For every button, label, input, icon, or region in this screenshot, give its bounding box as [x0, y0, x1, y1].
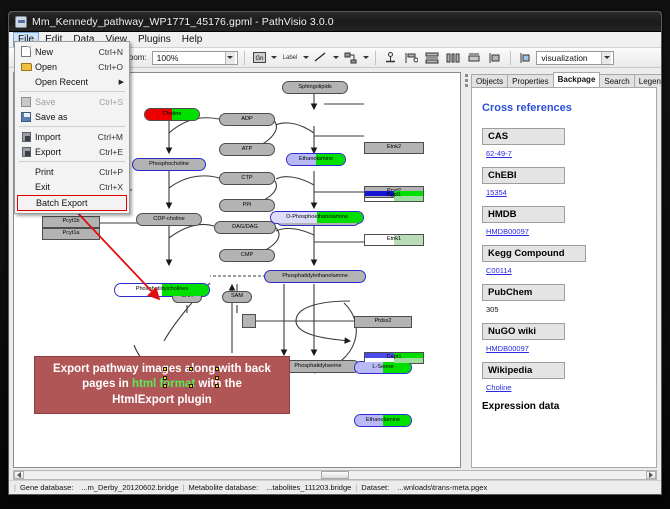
label-button[interactable]: Label: [281, 50, 300, 66]
node-pcyt1b[interactable]: Pcyt1b: [42, 216, 100, 228]
menu-item-open-recent[interactable]: Open Recent ▶: [15, 74, 129, 89]
menu-item-label: Import: [35, 132, 98, 142]
node-sam[interactable]: SAM: [222, 291, 252, 303]
import-icon: [17, 132, 35, 142]
xref-value[interactable]: Choline: [482, 379, 646, 392]
xref-pubchem: PubChem 305: [482, 284, 646, 314]
node-ethanolamine[interactable]: Ethanolamine: [286, 153, 346, 166]
tab-objects[interactable]: Objects: [471, 74, 508, 87]
anchor-button[interactable]: [382, 50, 399, 66]
node-anchor-box[interactable]: [242, 314, 256, 328]
new-file-icon: [17, 46, 35, 57]
backpage-content[interactable]: Cross references CAS 62-49-7 ChEBI 15354…: [471, 87, 657, 468]
selection-handle[interactable]: [163, 384, 167, 388]
tab-backpage[interactable]: Backpage: [553, 72, 601, 87]
menu-item-accel: Ctrl+N: [99, 47, 129, 57]
menu-item-import[interactable]: Import Ctrl+M: [15, 129, 129, 144]
tab-legend[interactable]: Legend: [634, 74, 662, 87]
menu-help[interactable]: Help: [177, 32, 208, 47]
menu-separator: [19, 126, 125, 127]
toolbar-separator-3: [510, 51, 511, 65]
status-bar: | Gene database: ...m_Derby_20120602.bri…: [9, 480, 661, 494]
menu-item-save-as[interactable]: Save as: [15, 109, 129, 124]
node-label: Etnk1: [387, 237, 401, 243]
node-atp[interactable]: ATP: [219, 143, 275, 156]
node-label: Ethanolamine: [299, 157, 333, 163]
menu-item-batch-export[interactable]: Batch Export: [17, 195, 127, 211]
expression-data-heading: Expression data: [482, 401, 646, 412]
selection-handle[interactable]: [215, 384, 219, 388]
node-label: Etnk2: [387, 145, 401, 151]
panel-drag-rail[interactable]: [463, 72, 470, 468]
node-label: Ptdss2: [374, 319, 391, 325]
node-phosphatidylethanolamine[interactable]: Phosphatidylethanolamine: [264, 270, 366, 283]
xref-chebi: ChEBI 15354: [482, 167, 646, 197]
menu-item-open[interactable]: Open Ctrl+O: [15, 59, 129, 74]
cross-references-heading: Cross references: [482, 102, 646, 114]
menu-item-print[interactable]: Print Ctrl+P: [15, 164, 129, 179]
annotation-banner: Export pathway images along with back pa…: [34, 356, 290, 414]
xref-nugo-wiki: NuGO wiki HMDB00097: [482, 323, 646, 353]
node-label: L-Serine: [372, 365, 393, 371]
node-sphingolipids[interactable]: Sphingolipids: [282, 81, 348, 94]
node-label: Cept1: [387, 355, 402, 361]
menu-item-label: Print: [35, 167, 99, 177]
xref-value[interactable]: HMDB00097: [482, 223, 646, 236]
node-label: Pcyt1b: [62, 219, 79, 225]
menu-item-accel: Ctrl+M: [98, 132, 129, 142]
node-label: Phosphatidylcholines: [136, 287, 189, 293]
selection-handle[interactable]: [215, 367, 219, 371]
selection-handle[interactable]: [215, 376, 219, 380]
node-choline-top[interactable]: Choline: [144, 108, 200, 121]
visualization-value: visualization: [541, 53, 601, 63]
xref-value[interactable]: C00114: [482, 262, 646, 275]
node-phosphatidylcholines[interactable]: Phosphatidylcholines: [114, 283, 210, 297]
status-gene-database-label: Gene database:: [16, 483, 77, 492]
xref-wikipedia: Wikipedia Choline: [482, 362, 646, 392]
node-label: CTP: [241, 176, 252, 182]
status-dataset-label: Dataset:: [357, 483, 393, 492]
scrollbar-thumb[interactable]: [321, 471, 349, 479]
menu-item-label: Open Recent: [35, 77, 129, 87]
node-label: O-Phosphoethanolamine: [286, 215, 348, 221]
selection-handle[interactable]: [189, 384, 193, 388]
xref-link[interactable]: HMDB00097: [486, 227, 529, 236]
line-button[interactable]: [312, 50, 329, 66]
save-icon: [17, 97, 35, 107]
scroll-left-icon[interactable]: [14, 471, 24, 479]
datanode-dropdown-icon[interactable]: [271, 56, 278, 59]
xref-value: 305: [482, 301, 646, 314]
xref-label: Wikipedia: [482, 362, 565, 379]
menu-item-exit[interactable]: Exit Ctrl+X: [15, 179, 129, 194]
menu-item-accel: Ctrl+X: [99, 182, 129, 192]
label-dropdown-icon[interactable]: [302, 56, 309, 59]
menu-item-label: Exit: [35, 182, 99, 192]
line-dropdown-icon[interactable]: [332, 56, 339, 59]
node-phosphocholine[interactable]: Phosphocholine: [132, 158, 206, 171]
node-ctp[interactable]: CTP: [219, 172, 275, 185]
menu-item-label: Batch Export: [36, 198, 126, 208]
menu-item-accel: Ctrl+S: [99, 97, 129, 107]
chevron-down-icon-2[interactable]: [601, 52, 611, 64]
xref-link[interactable]: Choline: [486, 383, 511, 392]
export-icon: [17, 147, 35, 157]
node-label: PPi: [243, 203, 252, 209]
open-folder-icon: [17, 63, 35, 71]
menu-item-new[interactable]: New Ctrl+N: [15, 44, 129, 59]
node-ptdss2[interactable]: Ptdss2: [354, 316, 412, 328]
node-label: Sgpl1: [387, 193, 401, 199]
menu-item-save: Save Ctrl+S: [15, 94, 129, 109]
status-gene-database-value: ...m_Derby_20120602.bridge: [77, 483, 182, 492]
scroll-right-icon[interactable]: [646, 471, 656, 479]
xref-label: Kegg Compound: [482, 245, 586, 262]
xref-kegg-compound: Kegg Compound C00114: [482, 245, 646, 275]
banner-line-3: HtmlExport plugin: [112, 394, 212, 406]
interaction-button[interactable]: [342, 50, 359, 66]
side-panel: Objects Properties Backpage Search Legen…: [461, 72, 657, 468]
visualization-icon[interactable]: [517, 50, 533, 66]
rail-dot-icon: [465, 74, 468, 77]
xref-link[interactable]: HMDB00097: [486, 344, 529, 353]
xref-label: CAS: [482, 128, 565, 145]
xref-label: PubChem: [482, 284, 565, 301]
selection-handle[interactable]: [189, 367, 193, 371]
distribute-button[interactable]: [444, 50, 462, 66]
tab-search[interactable]: Search: [599, 74, 634, 87]
tab-properties[interactable]: Properties: [507, 74, 553, 87]
file-menu-dropdown[interactable]: New Ctrl+N Open Ctrl+O Open Recent ▶ Sav…: [14, 41, 130, 214]
node-label: Pcyt1a: [62, 231, 79, 237]
order-button[interactable]: [486, 50, 504, 66]
menu-separator: [19, 161, 125, 162]
banner-line-1: Export pathway images along with back: [53, 363, 271, 375]
zoom-value: 100%: [157, 53, 225, 63]
node-o-phosphoethanolamine[interactable]: O-Phosphoethanolamine: [270, 211, 364, 224]
xref-value[interactable]: 15354: [482, 184, 646, 197]
node-adp[interactable]: ADP: [219, 113, 275, 126]
pathvisio-icon: [15, 16, 27, 28]
xref-link[interactable]: C00114: [486, 266, 512, 275]
node-label: Sphingolipids: [298, 85, 331, 91]
node-ethanolamine-2[interactable]: Ethanolamine: [354, 414, 412, 427]
xref-value[interactable]: 62-49-7: [482, 145, 646, 158]
menu-item-label: New: [35, 47, 99, 57]
visualization-combobox[interactable]: visualization: [536, 51, 614, 65]
node-label: Ethanolamine: [366, 418, 400, 424]
node-ppi[interactable]: PPi: [219, 199, 275, 212]
toolbar-separator-2: [375, 51, 376, 65]
submenu-arrow-icon: ▶: [119, 78, 124, 86]
rail-dot-icon: [465, 84, 468, 87]
node-pcyt1a[interactable]: Pcyt1a: [42, 228, 100, 240]
selection-handle[interactable]: [163, 367, 167, 371]
xref-link[interactable]: 15354: [486, 188, 507, 197]
datanode-button[interactable]: Gn: [251, 50, 268, 66]
menu-plugins[interactable]: Plugins: [133, 32, 176, 47]
xref-label: HMDB: [482, 206, 565, 223]
interaction-dropdown-icon[interactable]: [362, 56, 369, 59]
group-button[interactable]: [465, 50, 483, 66]
status-metabolite-database-label: Metabolite database:: [184, 483, 262, 492]
node-etnk1[interactable]: Etnk1: [364, 234, 424, 246]
side-panel-tabs: Objects Properties Backpage Search Legen…: [461, 72, 657, 87]
window-title: Mm_Kennedy_pathway_WP1771_45176.gpml - P…: [32, 16, 334, 28]
node-label: Phosphocholine: [149, 162, 189, 168]
pathvisio-window: Mm_Kennedy_pathway_WP1771_45176.gpml - P…: [8, 11, 662, 495]
selection-handle[interactable]: [163, 376, 167, 380]
horizontal-scrollbar[interactable]: [13, 470, 657, 480]
node-label: SAM: [231, 294, 243, 300]
align-left-button[interactable]: [402, 50, 420, 66]
banner-line-2a: pages in: [82, 378, 132, 390]
node-label: CMP: [241, 253, 253, 259]
chevron-down-icon[interactable]: [225, 52, 235, 64]
menu-item-label: Save as: [35, 112, 123, 122]
xref-label: ChEBI: [482, 167, 565, 184]
zoom-combobox[interactable]: 100%: [152, 51, 238, 65]
node-label: CDP-choline: [153, 217, 184, 223]
node-label: Phosphatidylethanolamine: [282, 274, 348, 280]
align-stack-button[interactable]: [423, 50, 441, 66]
menu-item-accel: Ctrl+O: [98, 62, 129, 72]
menu-item-export[interactable]: Export Ctrl+E: [15, 144, 129, 159]
node-label: DAG/DAG: [232, 225, 258, 231]
node-cdp-choline[interactable]: CDP-choline: [136, 213, 202, 226]
node-label: Phosphatidylserine: [294, 364, 341, 370]
menu-item-accel: Ctrl+E: [99, 147, 129, 157]
xref-link[interactable]: 62-49-7: [486, 149, 512, 158]
menu-separator: [19, 91, 125, 92]
node-dag[interactable]: DAG/DAG: [214, 221, 276, 234]
xref-cas: CAS 62-49-7: [482, 128, 646, 158]
title-bar: Mm_Kennedy_pathway_WP1771_45176.gpml - P…: [9, 12, 661, 32]
menu-item-label: Save: [35, 97, 99, 107]
svg-text:Gn: Gn: [255, 56, 263, 62]
save-as-icon: [17, 112, 35, 122]
status-dataset-value: ...wnloads\trans-meta.pgex: [393, 483, 491, 492]
node-label: ATP: [242, 147, 252, 153]
xref-label: NuGO wiki: [482, 323, 565, 340]
desktop-background: Mm_Kennedy_pathway_WP1771_45176.gpml - P…: [0, 0, 670, 509]
menu-item-label: Export: [35, 147, 99, 157]
node-etnk2[interactable]: Etnk2: [364, 142, 424, 154]
node-cmp[interactable]: CMP: [219, 249, 275, 262]
rail-dot-icon: [465, 79, 468, 82]
status-metabolite-database-value: ...tabolites_111203.bridge: [262, 483, 355, 492]
toolbar-separator: [244, 51, 245, 65]
menu-item-accel: Ctrl+P: [99, 167, 129, 177]
node-label: Choline: [163, 112, 182, 118]
xref-value[interactable]: HMDB00097: [482, 340, 646, 353]
node-label: ADP: [241, 117, 253, 123]
xref-hmdb: HMDB HMDB00097: [482, 206, 646, 236]
menu-item-label: Open: [35, 62, 98, 72]
